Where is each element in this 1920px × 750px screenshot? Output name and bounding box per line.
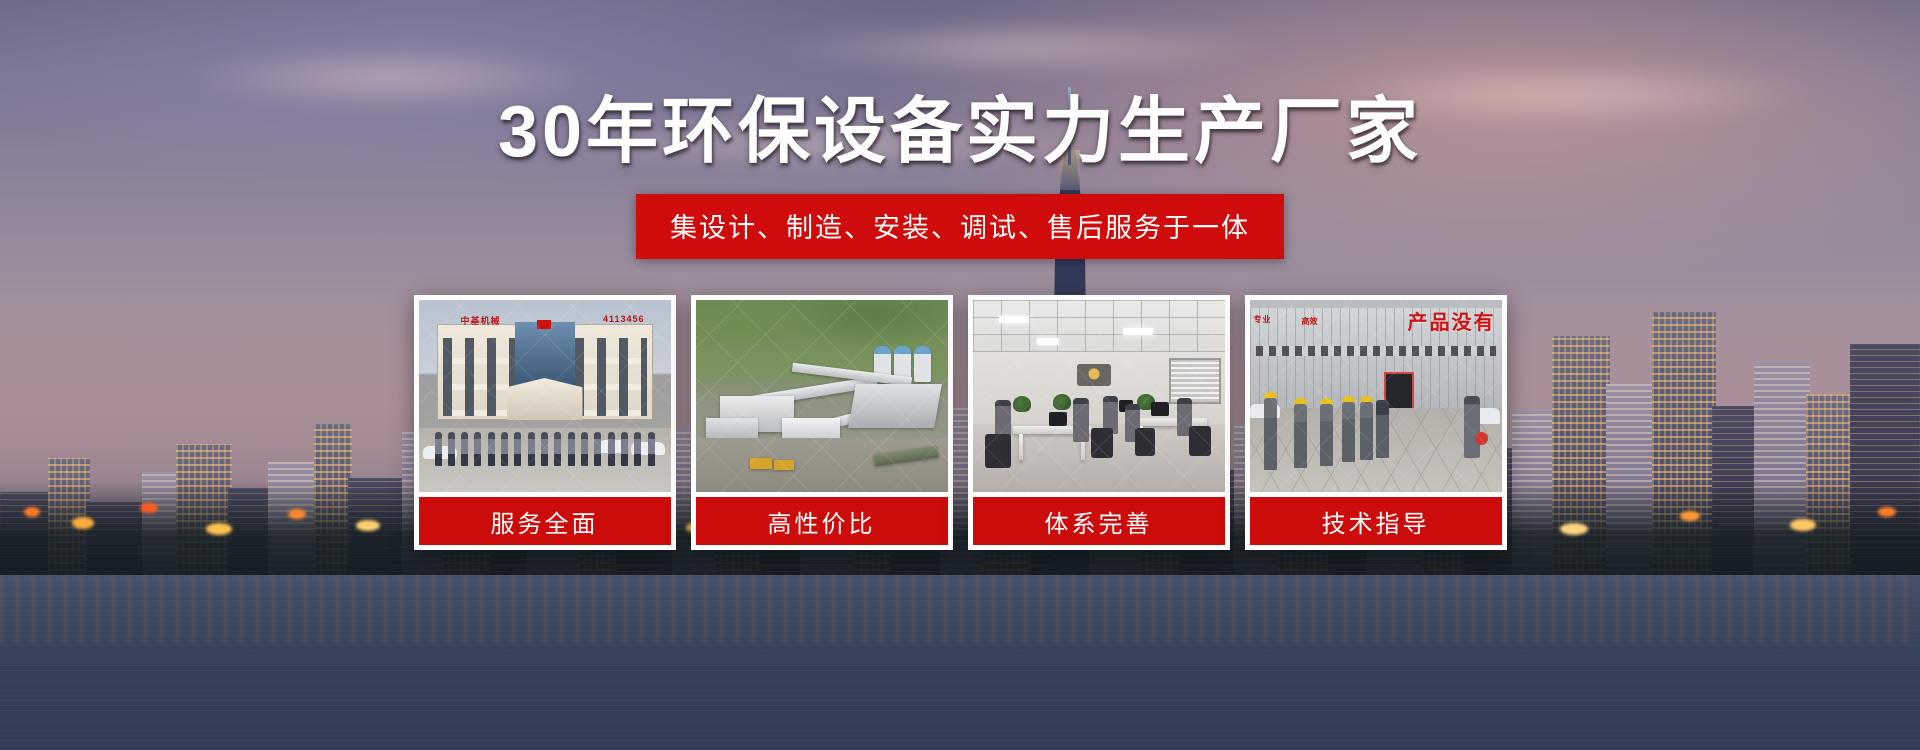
feature-card-caption: 技术指导 xyxy=(1250,497,1502,545)
feature-card-2[interactable]: 高性价比 xyxy=(691,295,953,550)
feature-card-caption: 服务全面 xyxy=(419,497,671,545)
feature-card-3[interactable]: 体系完善 xyxy=(968,295,1230,550)
workshop-team-photo: 专业 高效 产品没有 xyxy=(1250,300,1502,492)
building-phone-text: 4113456 xyxy=(603,314,645,324)
feature-card-caption: 高性价比 xyxy=(696,497,948,545)
page-title: 30年环保设备实力生产厂家 xyxy=(498,96,1422,168)
feature-card-1[interactable]: 中基机械 4113456 xyxy=(414,295,676,550)
factory-slogan-1: 专业 xyxy=(1254,314,1272,325)
building-sign-text: 中基机械 xyxy=(461,314,501,327)
hero-banner: 30年环保设备实力生产厂家 集设计、制造、安装、调试、售后服务于一体 中基机械 … xyxy=(0,0,1920,750)
feature-card-4[interactable]: 专业 高效 产品没有 xyxy=(1245,295,1507,550)
factory-slogan-2: 高效 xyxy=(1302,316,1318,327)
office-interior-photo xyxy=(973,300,1225,492)
banner-content: 30年环保设备实力生产厂家 集设计、制造、安装、调试、售后服务于一体 中基机械 … xyxy=(0,0,1920,750)
production-plant-aerial-photo xyxy=(696,300,948,492)
feature-card-caption: 体系完善 xyxy=(973,497,1225,545)
subtitle-banner: 集设计、制造、安装、调试、售后服务于一体 xyxy=(636,194,1284,259)
factory-sign-text: 产品没有 xyxy=(1408,306,1496,335)
feature-card-list: 中基机械 4113456 xyxy=(414,295,1507,550)
company-headquarters-photo: 中基机械 4113456 xyxy=(419,300,671,492)
staff-row xyxy=(435,432,655,472)
